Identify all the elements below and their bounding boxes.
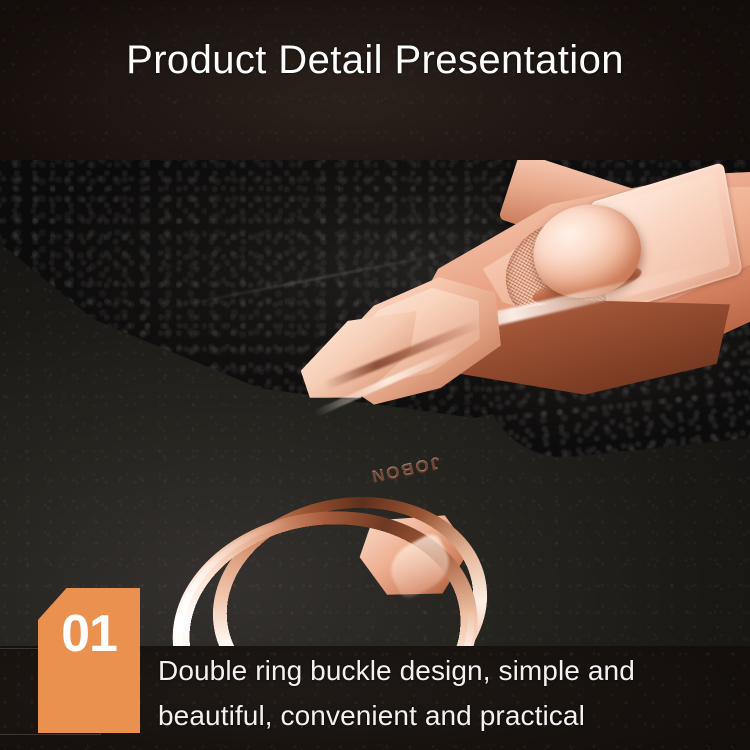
feature-caption-line-2: beautiful, convenient and practical (158, 693, 718, 738)
product-detail-image: Product Detail Presentation JOBON (0, 0, 750, 750)
feature-number-badge: 01 (38, 588, 140, 733)
title-banner: Product Detail Presentation (0, 0, 750, 160)
feature-caption-line-1: Double ring buckle design, simple and (158, 648, 718, 693)
page-title: Product Detail Presentation (0, 0, 750, 160)
feature-caption: Double ring buckle design, simple and be… (158, 648, 718, 739)
feature-number-label: 01 (61, 608, 117, 660)
